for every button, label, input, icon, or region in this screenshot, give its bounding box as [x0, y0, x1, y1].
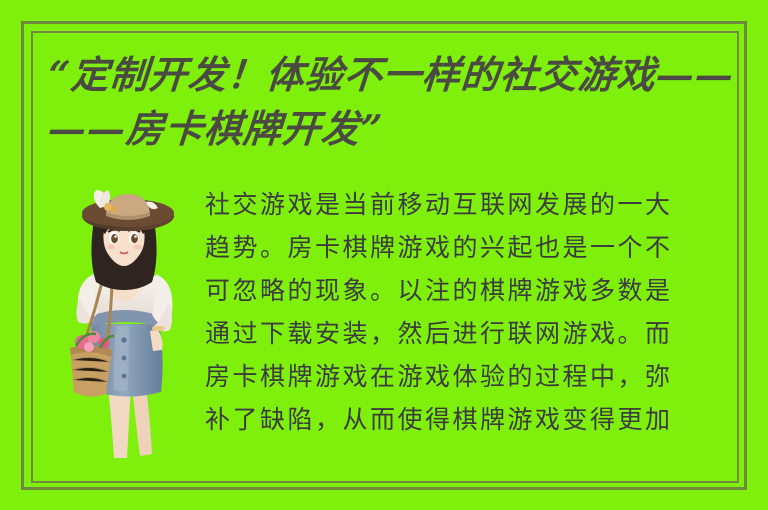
body-line-6: 补了缺陷，从而使得棋牌游戏变得更加 — [205, 398, 715, 441]
title-line-1: “定制开发！体验不一样的社交游戏—— — [46, 48, 722, 102]
poster-canvas: “定制开发！体验不一样的社交游戏—— ——房卡棋牌开发” — [0, 0, 768, 510]
article-body: 社交游戏是当前移动互联网发展的一大 趋势。房卡棋牌游戏的兴起也是一个不 可忽略的… — [205, 183, 715, 441]
body-line-5: 房卡棋牌游戏在游戏体验的过程中，弥 — [205, 355, 715, 398]
body-line-1: 社交游戏是当前移动互联网发展的一大 — [205, 183, 715, 226]
body-line-4: 通过下载安装，然后进行联网游戏。而 — [205, 312, 715, 355]
illustration-woman-with-hat — [56, 190, 192, 458]
title-line-2: ——房卡棋牌开发” — [46, 102, 722, 156]
body-line-3: 可忽略的现象。以注的棋牌游戏多数是 — [205, 269, 715, 312]
body-line-2: 趋势。房卡棋牌游戏的兴起也是一个不 — [205, 226, 715, 269]
page-title: “定制开发！体验不一样的社交游戏—— ——房卡棋牌开发” — [48, 48, 720, 156]
